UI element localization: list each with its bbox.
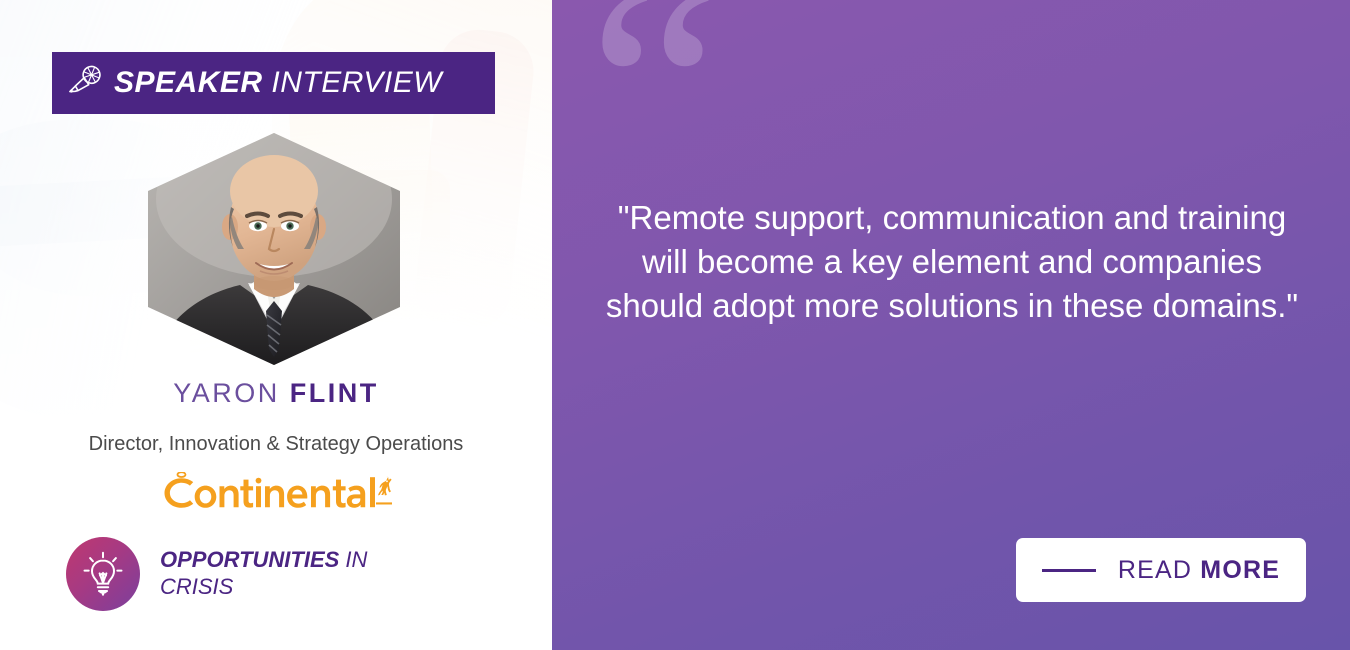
- badge-title: OPPORTUNITIES INCRISIS: [160, 547, 367, 601]
- read-more-label-bold: MORE: [1200, 556, 1280, 584]
- read-more-label: READ MORE: [1118, 556, 1280, 585]
- read-more-label-regular: READ: [1118, 556, 1192, 584]
- badge-circle: [66, 537, 140, 611]
- speaker-name: YARON FLINT: [0, 378, 552, 409]
- microphone-icon: [68, 62, 102, 104]
- continental-wordmark: [160, 472, 392, 510]
- speaker-role: Director, Innovation & Strategy Operatio…: [0, 433, 552, 456]
- lightbulb-icon: [82, 551, 124, 597]
- speaker-interview-card: SPEAKER INTERVIEW: [0, 0, 1350, 650]
- speaker-interview-banner: SPEAKER INTERVIEW: [52, 52, 495, 114]
- banner-title-bold: SPEAKER: [114, 66, 263, 99]
- badge-title-rest: IN: [339, 547, 367, 572]
- left-panel: SPEAKER INTERVIEW: [0, 0, 552, 650]
- dash-icon: [1042, 569, 1096, 572]
- badge-title-bold: OPPORTUNITIES: [160, 547, 339, 572]
- series-badge: OPPORTUNITIES INCRISIS: [66, 537, 367, 611]
- read-more-button[interactable]: READ MORE: [1016, 538, 1306, 602]
- speaker-portrait: [148, 133, 400, 365]
- banner-title: SPEAKER INTERVIEW: [114, 66, 442, 100]
- speaker-last-name: FLINT: [290, 378, 379, 408]
- banner-title-italic: INTERVIEW: [271, 66, 442, 99]
- badge-title-line2: CRISIS: [160, 574, 233, 599]
- continental-logo: [0, 472, 552, 510]
- speaker-first-name: YARON: [173, 378, 280, 408]
- right-panel: “ "Remote support, communication and tra…: [552, 0, 1350, 650]
- quote-text: "Remote support, communication and train…: [596, 196, 1308, 328]
